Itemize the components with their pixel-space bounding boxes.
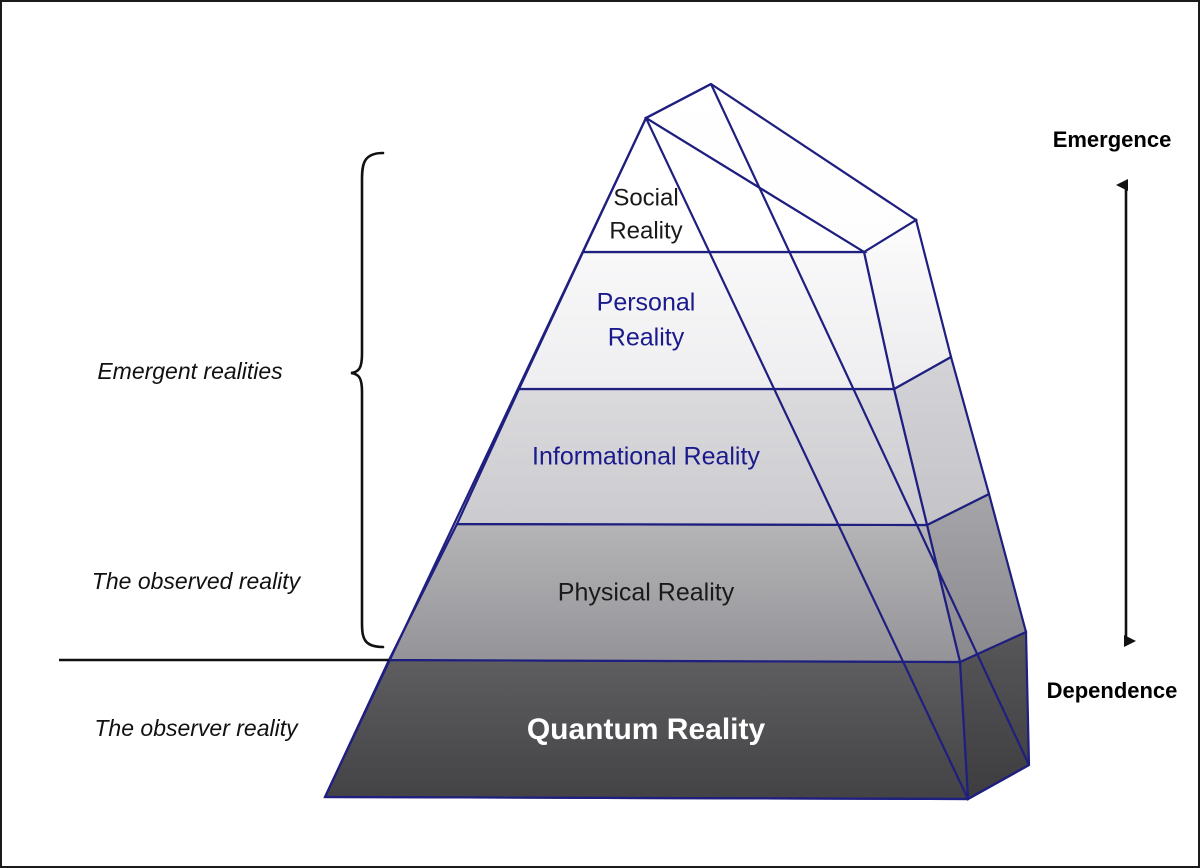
brace-icon [351, 153, 383, 647]
layer-label-personal-line2: Reality [608, 324, 685, 352]
layer-label-informational: Informational Reality [532, 443, 760, 471]
annotation-observer-reality: The observer reality [94, 715, 299, 741]
annotation-observed-reality: The observed reality [92, 568, 302, 594]
layer-label-personal-line1: Personal [597, 289, 696, 317]
axis-label-dependence: Dependence [1047, 678, 1178, 703]
diagram-canvas: Social Reality Personal Reality Informat… [0, 0, 1200, 868]
layer-label-quantum: Quantum Reality [527, 713, 766, 746]
left-annotations: Emergent realities The observed reality … [92, 358, 302, 741]
layer-label-social-line1: Social [613, 184, 678, 211]
front-face-personal [519, 252, 894, 389]
layer-label-social-line2: Reality [609, 217, 682, 244]
layer-label-physical: Physical Reality [558, 579, 735, 607]
reality-pyramid-diagram: Social Reality Personal Reality Informat… [2, 2, 1200, 868]
axis-label-emergence: Emergence [1053, 127, 1172, 152]
annotation-emergent-realities: Emergent realities [97, 358, 283, 384]
emergence-dependence-axis: Emergence Dependence [1047, 127, 1178, 703]
emergent-realities-brace [351, 153, 383, 647]
